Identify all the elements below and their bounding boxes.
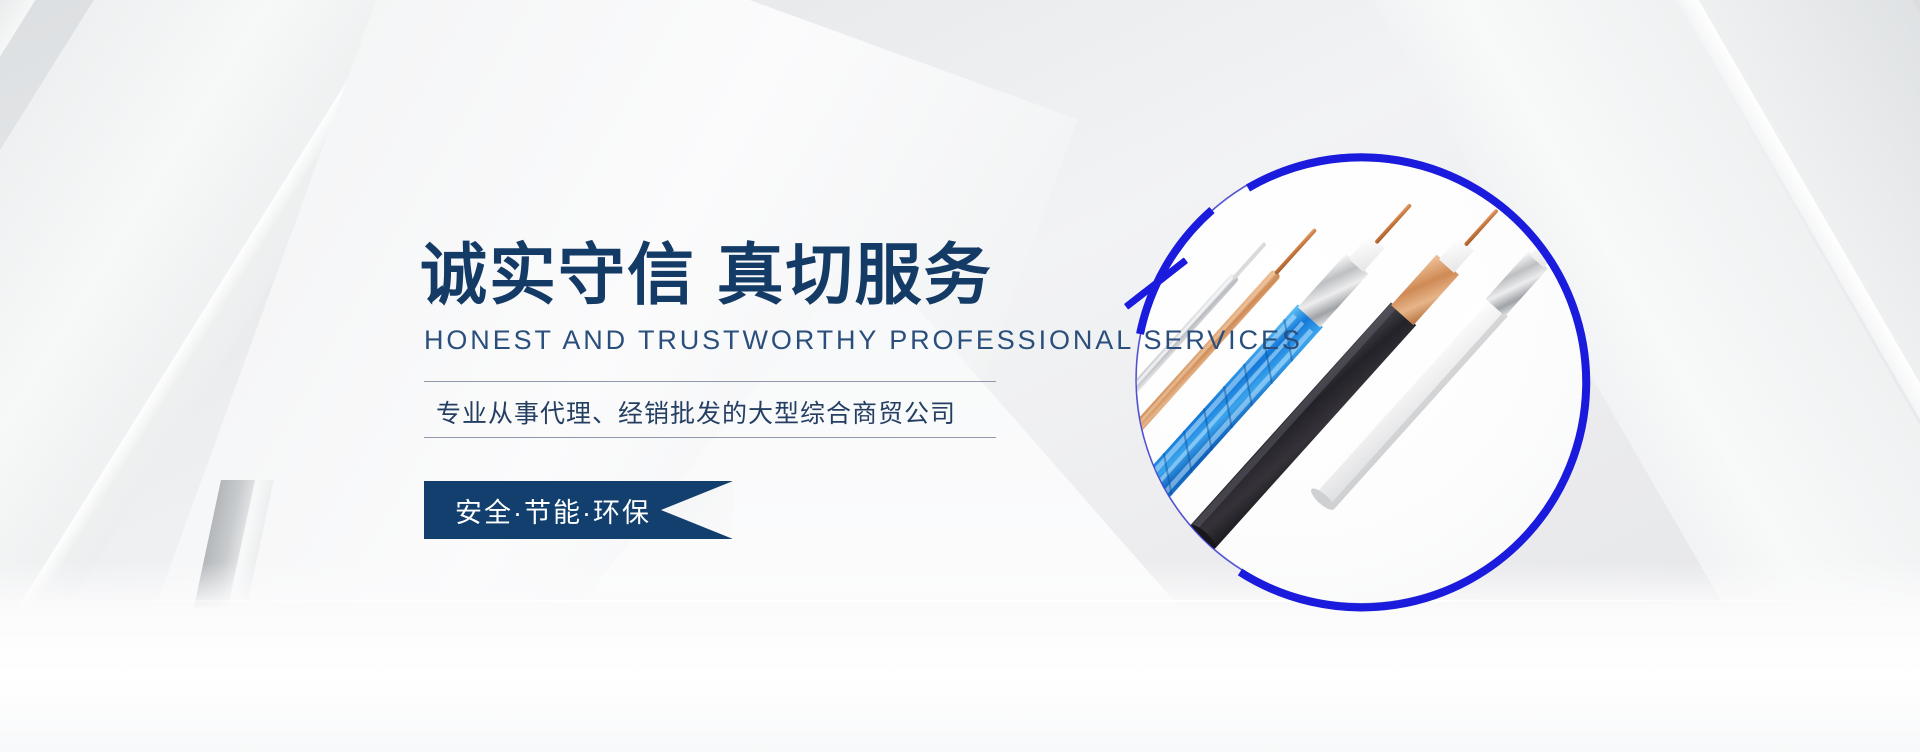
banner-description: 专业从事代理、经销批发的大型综合商贸公司: [436, 394, 956, 430]
hero-banner: / | ⌐ \ _ ) (: [0, 0, 1920, 752]
divider-line-bottom: [424, 437, 996, 438]
banner-headline: 诚实守信 真切服务: [420, 242, 993, 309]
feature-ribbon-label: 安全·节能·环保: [455, 481, 651, 539]
divider-line-top: [424, 381, 996, 382]
banner-text-block: 诚实守信 真切服务 HONEST AND TRUSTWORTHY PROFESS…: [0, 0, 1920, 752]
banner-subheadline: HONEST AND TRUSTWORTHY PROFESSIONAL SERV…: [424, 325, 1303, 356]
